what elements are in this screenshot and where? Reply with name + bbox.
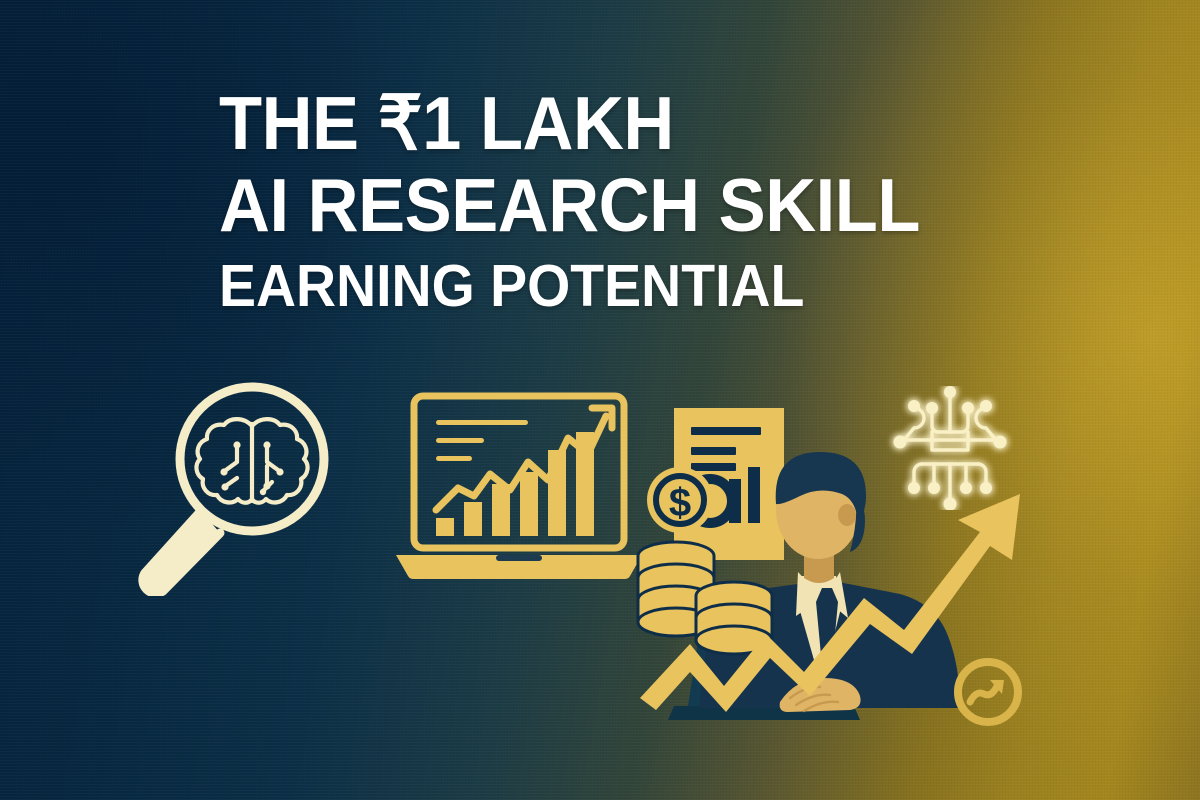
dollar-coin: $ [647, 467, 713, 533]
coins-stack: $ [638, 467, 772, 654]
laptop-chart-svg [392, 392, 646, 586]
laptop-growth-chart-icon [392, 392, 646, 586]
headline-line-1: THE ₹1 LAKH [219, 86, 990, 160]
svg-text:$: $ [669, 481, 691, 525]
businessman-laptop-illustration: $ [628, 448, 1058, 800]
trend-arrow-badge-icon [948, 652, 1028, 732]
magnifier-brain-svg [112, 374, 336, 596]
poster-canvas: THE ₹1 LAKH AI RESEARCH SKILL EARNING PO… [0, 0, 1200, 800]
chart-rules [436, 420, 528, 461]
businessman-scene-svg: $ [628, 448, 1058, 800]
trend-badge-svg [948, 652, 1028, 732]
magnifier-brain-icon [112, 374, 336, 596]
headline-line-2: AI RESEARCH SKILL [219, 168, 990, 242]
headline-line-3: EARNING POTENTIAL [219, 257, 990, 315]
headline-block: THE ₹1 LAKH AI RESEARCH SKILL EARNING PO… [219, 86, 1039, 315]
